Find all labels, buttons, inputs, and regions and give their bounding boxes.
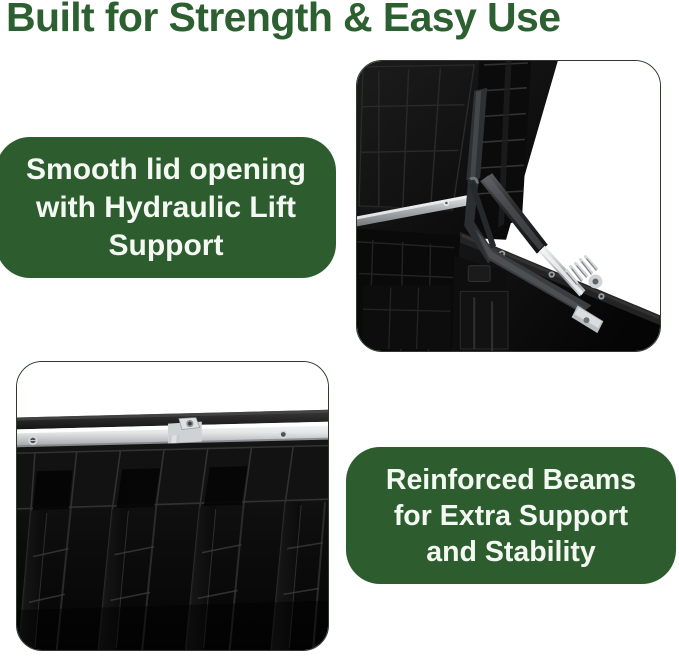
callout-smooth-lid-opening: Smooth lid opening with Hydraulic Lift S… <box>0 137 336 278</box>
photo-hydraulic-lift <box>356 60 661 352</box>
callout-reinforced-beams: Reinforced Beams for Extra Support and S… <box>346 447 676 584</box>
support-bar-screw-left <box>28 436 37 445</box>
support-bar-screw-right <box>279 430 287 438</box>
callout-line: for Extra Support <box>394 498 628 534</box>
beam-cells-row-top <box>17 445 328 511</box>
callout-line: Smooth lid opening <box>26 151 306 189</box>
callout-line: Support <box>109 227 224 265</box>
photo-reinforced-beams <box>16 361 329 651</box>
latch-housing <box>452 256 508 351</box>
page-title: Built for Strength & Easy Use <box>6 0 676 41</box>
hydraulic-lift-illustration <box>357 61 660 351</box>
callout-line: with Hydraulic Lift <box>36 189 296 227</box>
reinforced-beams-illustration <box>17 362 328 650</box>
reinforcement-beams <box>17 439 328 650</box>
callout-line: and Stability <box>426 534 595 570</box>
box-interior-wall <box>357 228 460 351</box>
callout-line: Reinforced Beams <box>386 462 636 498</box>
